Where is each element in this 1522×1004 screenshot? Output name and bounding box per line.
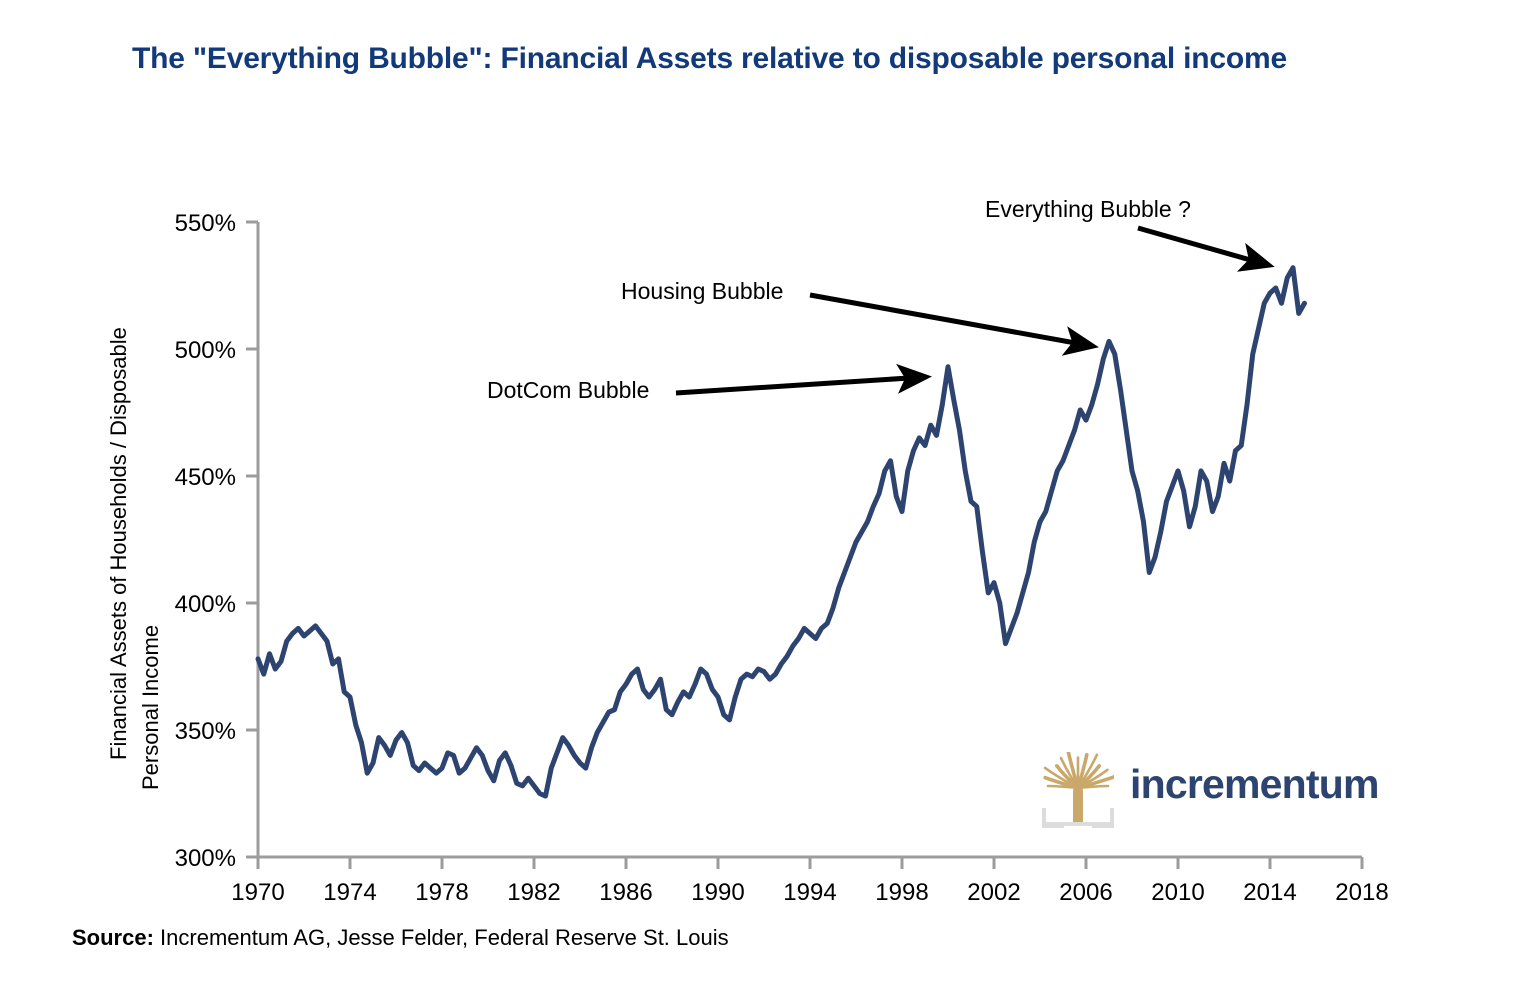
chart-svg: Financial Assets of Households / Disposa…: [0, 0, 1522, 1004]
x-tick-label: 2010: [1151, 879, 1204, 906]
x-tick-label: 1978: [415, 879, 468, 906]
annotation-arrow-dotcom-bubble: [676, 377, 925, 393]
y-axis-title-line-1: Financial Assets of Households / Disposa…: [106, 327, 131, 760]
incrementum-logo: incrementum: [1042, 752, 1352, 830]
y-axis-ticks: 300%350%400%450%500%550%: [175, 210, 258, 872]
x-tick-label: 1994: [783, 879, 836, 906]
x-tick-label: 1982: [507, 879, 560, 906]
x-tick-label: 1990: [691, 879, 744, 906]
annotation-label-everything-bubble: Everything Bubble ?: [985, 196, 1191, 222]
series-line-path: [258, 268, 1305, 796]
annotation-arrow-everything-bubble: [1138, 228, 1268, 265]
y-axis-title-line-2: Personal Income: [138, 625, 163, 790]
x-tick-label: 2006: [1059, 879, 1112, 906]
annotation-label-housing-bubble: Housing Bubble: [621, 278, 783, 304]
annotation-arrow-housing-bubble: [810, 295, 1092, 346]
y-tick-label: 500%: [175, 337, 236, 364]
x-tick-label: 1998: [875, 879, 928, 906]
annotations-group: DotCom BubbleHousing BubbleEverything Bu…: [487, 196, 1268, 403]
x-tick-label: 1974: [323, 879, 376, 906]
tree-branch: [1078, 786, 1108, 788]
data-series-group: [258, 268, 1305, 796]
tree-logo-icon: [1042, 752, 1114, 828]
source-note: Source: Incrementum AG, Jesse Felder, Fe…: [72, 925, 729, 951]
y-tick-label: 550%: [175, 210, 236, 237]
y-tick-label: 400%: [175, 591, 236, 618]
x-tick-label: 2014: [1243, 879, 1296, 906]
x-tick-label: 2002: [967, 879, 1020, 906]
source-label: Source:: [72, 925, 154, 950]
y-tick-label: 300%: [175, 845, 236, 872]
source-text: Incrementum AG, Jesse Felder, Federal Re…: [154, 925, 729, 950]
x-tick-label: 2018: [1335, 879, 1388, 906]
y-tick-label: 450%: [175, 464, 236, 491]
x-tick-label: 1986: [599, 879, 652, 906]
y-tick-label: 350%: [175, 718, 236, 745]
annotation-label-dotcom-bubble: DotCom Bubble: [487, 377, 649, 403]
x-axis-ticks: 1970197419781982198619901994199820022006…: [231, 857, 1388, 906]
y-axis-title: Financial Assets of Households / Disposa…: [106, 327, 163, 790]
logo-wordmark: incrementum: [1130, 761, 1379, 808]
chart-container: Financial Assets of Households / Disposa…: [0, 0, 1522, 1004]
x-tick-label: 1970: [231, 879, 284, 906]
